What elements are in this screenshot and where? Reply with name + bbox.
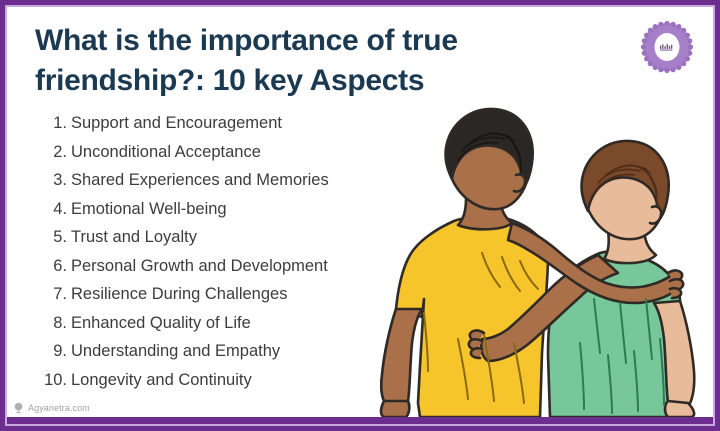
watermark-text: Agyanetra.com	[28, 403, 90, 413]
list-item-number: 4.	[33, 201, 67, 218]
list-item-number: 9.	[33, 343, 67, 360]
two-friends-illustration	[362, 103, 712, 417]
list-item-label: Longevity and Continuity	[71, 372, 252, 389]
list-item-label: Enhanced Quality of Life	[71, 315, 251, 332]
list-item: 6. Personal Growth and Development	[33, 258, 393, 287]
list-item-label: Shared Experiences and Memories	[71, 172, 329, 189]
list-item-label: Unconditional Acceptance	[71, 144, 261, 161]
list-item: 2. Unconditional Acceptance	[33, 144, 393, 173]
list-item: 10. Longevity and Continuity	[33, 372, 393, 401]
aspect-list: 1. Support and Encouragement 2. Uncondit…	[33, 115, 393, 400]
watermark: Agyanetra.com	[13, 402, 90, 413]
list-item: 1. Support and Encouragement	[33, 115, 393, 144]
list-item: 4. Emotional Well-being	[33, 201, 393, 230]
list-item-label: Understanding and Empathy	[71, 343, 280, 360]
card-content-area: What is the importance of true friendshi…	[7, 7, 713, 417]
list-item-number: 7.	[33, 286, 67, 303]
list-item-number: 10.	[33, 372, 67, 389]
list-item-number: 1.	[33, 115, 67, 132]
list-item: 5. Trust and Loyalty	[33, 229, 393, 258]
list-item: 3. Shared Experiences and Memories	[33, 172, 393, 201]
list-item-label: Emotional Well-being	[71, 201, 227, 218]
agyanetra-circular-emblem-icon	[639, 19, 695, 75]
infographic-card: What is the importance of true friendshi…	[0, 0, 720, 431]
list-item-label: Trust and Loyalty	[71, 229, 197, 246]
agyanetra-mark-icon	[13, 402, 24, 413]
list-item-label: Personal Growth and Development	[71, 258, 328, 275]
list-item-label: Support and Encouragement	[71, 115, 282, 132]
list-item: 7. Resilience During Challenges	[33, 286, 393, 315]
list-item: 8. Enhanced Quality of Life	[33, 315, 393, 344]
list-item-number: 8.	[33, 315, 67, 332]
list-item: 9. Understanding and Empathy	[33, 343, 393, 372]
page-title: What is the importance of true friendshi…	[35, 21, 595, 100]
list-item-number: 5.	[33, 229, 67, 246]
list-item-label: Resilience During Challenges	[71, 286, 287, 303]
list-item-number: 3.	[33, 172, 67, 189]
list-item-number: 6.	[33, 258, 67, 275]
list-item-number: 2.	[33, 144, 67, 161]
